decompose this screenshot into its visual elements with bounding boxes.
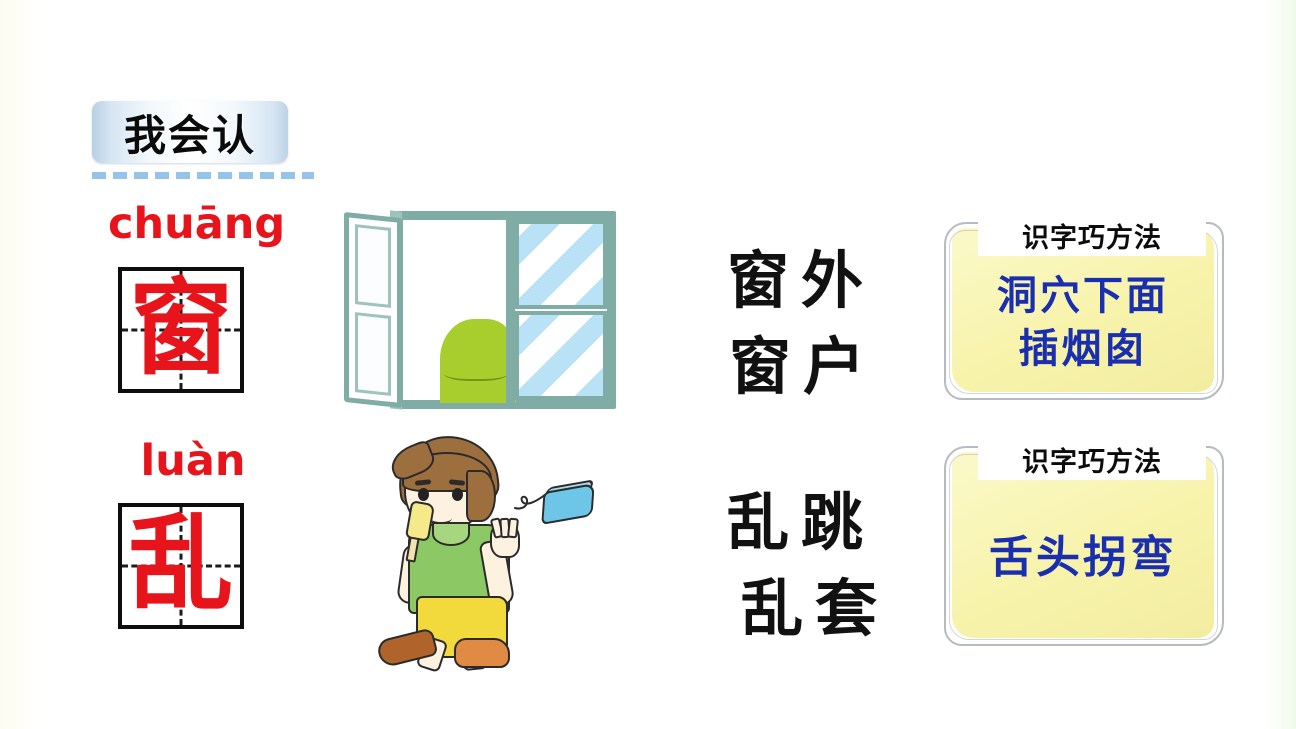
note-title-chuang: 识字巧方法 [978, 214, 1206, 256]
pinyin-luan: luàn [108, 436, 278, 486]
tip-note-luan: 识字巧方法 舌头拐弯 [952, 452, 1214, 638]
boy-shirt-collar [432, 522, 470, 546]
note-body-chuang: 洞穴下面 插烟囱 [952, 262, 1214, 384]
window-pane-top-right [515, 220, 607, 309]
word-list-luan: 乱跳 乱套 [727, 480, 889, 651]
window-sash-pane-bottom [355, 312, 391, 396]
word-list-chuang: 窗外 窗户 [727, 238, 877, 409]
note-title-luan: 识字巧方法 [978, 438, 1206, 480]
character-glyph-luan: 乱 [122, 507, 240, 625]
boy-eye-right [452, 488, 463, 501]
boy-littering-illustration [374, 436, 594, 666]
section-header-underline [92, 172, 314, 179]
word-chuanghu: 窗户 [729, 324, 877, 410]
note-line-2: 插烟囱 [1019, 323, 1148, 376]
slide-canvas: 我会认 chuāng 窗 窗外 窗户 识字巧方法 [0, 0, 1296, 729]
word-luantiao: 乱跳 [727, 486, 875, 559]
boy-finger-3 [507, 518, 519, 539]
boy-eye-left [418, 488, 429, 501]
section-header-label: 我会认 [92, 101, 288, 163]
window-sash-pane-top [355, 224, 391, 308]
window-pane-bottom-right [515, 311, 607, 400]
character-grid-box-luan: 乱 [118, 503, 244, 629]
window-bush-detail-line [444, 363, 508, 381]
note-line-1: 舌头拐弯 [989, 529, 1177, 587]
boy-hair-side [466, 470, 496, 522]
word-chuangwai: 窗外 [727, 244, 875, 317]
character-glyph-chuang: 窗 [122, 271, 240, 389]
pinyin-chuang: chuāng [108, 199, 278, 249]
character-grid-box-chuang: 窗 [118, 267, 244, 393]
window-glass-shine-bottom [519, 315, 603, 396]
window-center-mullion [506, 217, 515, 403]
note-body-luan: 舌头拐弯 [952, 486, 1214, 630]
note-line-1: 洞穴下面 [997, 270, 1169, 323]
boy-shoe-right [454, 638, 510, 668]
open-window-illustration [344, 211, 616, 409]
window-open-sash [344, 212, 402, 408]
word-luantao: 乱套 [741, 566, 889, 652]
window-glass-shine-top [519, 224, 603, 305]
tip-note-chuang: 识字巧方法 洞穴下面 插烟囱 [952, 228, 1214, 392]
